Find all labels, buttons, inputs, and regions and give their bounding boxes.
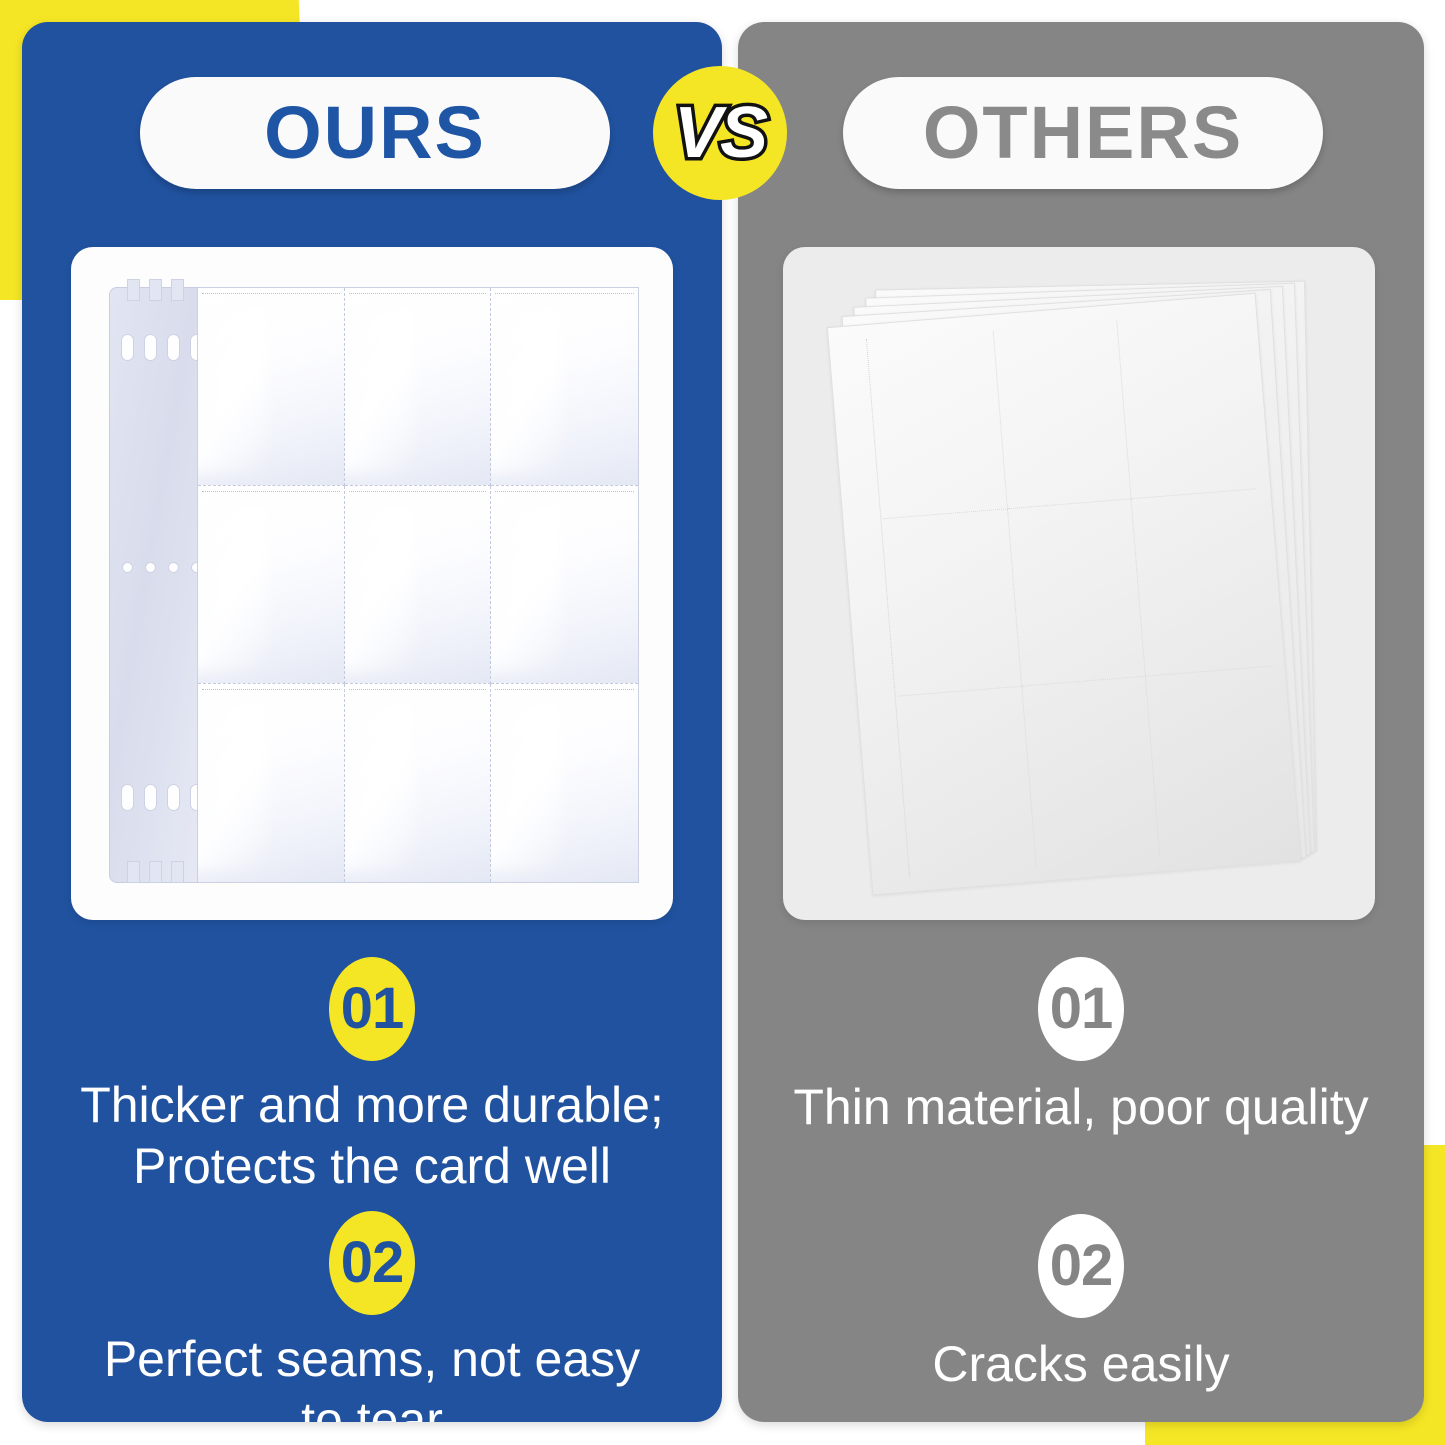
ours-feature-list: 01 Thicker and more durable;Protects the… bbox=[22, 957, 722, 1422]
punch-hole bbox=[167, 784, 180, 811]
card-pocket bbox=[198, 288, 345, 486]
card-pocket bbox=[198, 684, 345, 882]
others-panel: OTHERS bbox=[738, 22, 1424, 1422]
ours-feature-number-badge: 02 bbox=[329, 1211, 415, 1315]
card-sleeve-top bbox=[827, 293, 1301, 896]
punch-hole bbox=[144, 784, 157, 811]
ours-feature-item: 01 Thicker and more durable;Protects the… bbox=[22, 957, 722, 1197]
spine-tab bbox=[149, 279, 162, 301]
punch-hole bbox=[121, 334, 134, 361]
card-pocket-grid bbox=[197, 287, 639, 883]
ours-header-label: OURS bbox=[264, 96, 486, 170]
card-pocket bbox=[491, 684, 638, 882]
binder-page-graphic bbox=[109, 279, 639, 891]
punch-hole-small bbox=[122, 562, 133, 573]
spine-tab bbox=[149, 861, 162, 883]
others-header-pill: OTHERS bbox=[843, 77, 1323, 189]
spine-tab bbox=[171, 279, 184, 301]
vs-badge: VS bbox=[653, 66, 787, 200]
ours-feature-item: 02 Perfect seams, not easyto tear bbox=[22, 1211, 722, 1422]
others-feature-number-badge: 02 bbox=[1038, 1214, 1124, 1318]
ours-feature-number-badge: 01 bbox=[329, 957, 415, 1061]
punch-hole bbox=[144, 334, 157, 361]
punch-hole-small bbox=[168, 562, 179, 573]
others-feature-list: 01 Thin material, poor quality 02 Cracks… bbox=[738, 957, 1424, 1395]
card-pocket bbox=[345, 684, 492, 882]
others-feature-number-badge: 01 bbox=[1038, 957, 1124, 1061]
vs-label: VS bbox=[674, 97, 766, 169]
card-pocket bbox=[345, 288, 492, 486]
others-feature-text: Cracks easily bbox=[738, 1334, 1424, 1395]
ours-feature-text: Perfect seams, not easyto tear bbox=[22, 1329, 722, 1422]
punch-hole-small bbox=[145, 562, 156, 573]
others-header-label: OTHERS bbox=[923, 96, 1243, 170]
punch-hole bbox=[167, 334, 180, 361]
others-product-image bbox=[783, 247, 1375, 920]
card-pocket bbox=[491, 288, 638, 486]
ours-product-image bbox=[71, 247, 673, 920]
others-feature-item: 01 Thin material, poor quality bbox=[738, 957, 1424, 1138]
punch-hole bbox=[121, 784, 134, 811]
ours-panel: OURS bbox=[22, 22, 722, 1422]
others-feature-text: Thin material, poor quality bbox=[738, 1077, 1424, 1138]
comparison-infographic: OURS bbox=[0, 0, 1445, 1445]
spine-tab bbox=[127, 279, 140, 301]
spine-tab bbox=[127, 861, 140, 883]
others-feature-item: 02 Cracks easily bbox=[738, 1214, 1424, 1395]
ours-feature-text: Thicker and more durable;Protects the ca… bbox=[22, 1075, 722, 1197]
spine-tab bbox=[171, 861, 184, 883]
card-pocket bbox=[491, 486, 638, 684]
card-pocket bbox=[198, 486, 345, 684]
card-pocket bbox=[345, 486, 492, 684]
ours-header-pill: OURS bbox=[140, 77, 610, 189]
sleeve-stack-graphic bbox=[835, 285, 1315, 885]
